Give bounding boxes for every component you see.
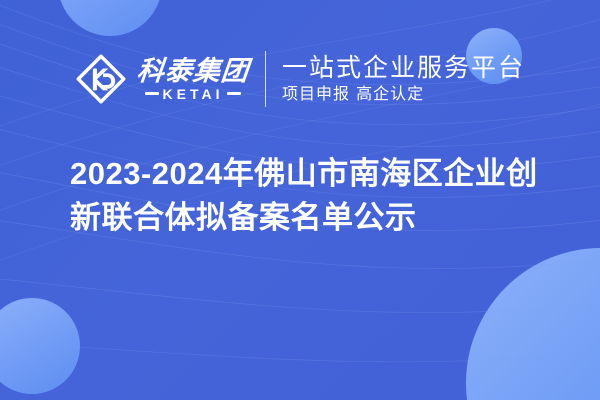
announcement-banner: 科泰集团 KETAI 一站式企业服务平台 项目申报 高企认定 2023-2024… [0, 0, 600, 400]
brand-name-en: KETAI [163, 87, 224, 101]
brand-name-cn: 科泰集团 [136, 58, 251, 85]
decorative-sphere-bottom-left [0, 298, 80, 394]
slogan-primary: 一站式企业服务平台 [282, 55, 525, 81]
banner-header: 科泰集团 KETAI 一站式企业服务平台 项目申报 高企认定 [0, 40, 600, 118]
decorative-sphere-top [58, 0, 162, 36]
rule-left-icon [145, 92, 159, 95]
header-divider [265, 51, 266, 107]
page-title: 2023-2024年佛山市南海区企业创新联合体拟备案名单公示 [70, 152, 540, 240]
brand-lockup[interactable]: 科泰集团 KETAI [75, 53, 249, 105]
title-block: 2023-2024年佛山市南海区企业创新联合体拟备案名单公示 [70, 152, 540, 240]
rule-right-icon [227, 92, 241, 95]
brand-text: 科泰集团 KETAI [137, 58, 249, 101]
decorative-sphere-bottom-right [466, 248, 600, 400]
brand-name-en-row: KETAI [145, 87, 242, 101]
ketai-monogram-diamond-icon [75, 53, 127, 105]
slogan-block: 一站式企业服务平台 项目申报 高企认定 [282, 55, 525, 103]
slogan-secondary: 项目申报 高企认定 [282, 86, 525, 103]
